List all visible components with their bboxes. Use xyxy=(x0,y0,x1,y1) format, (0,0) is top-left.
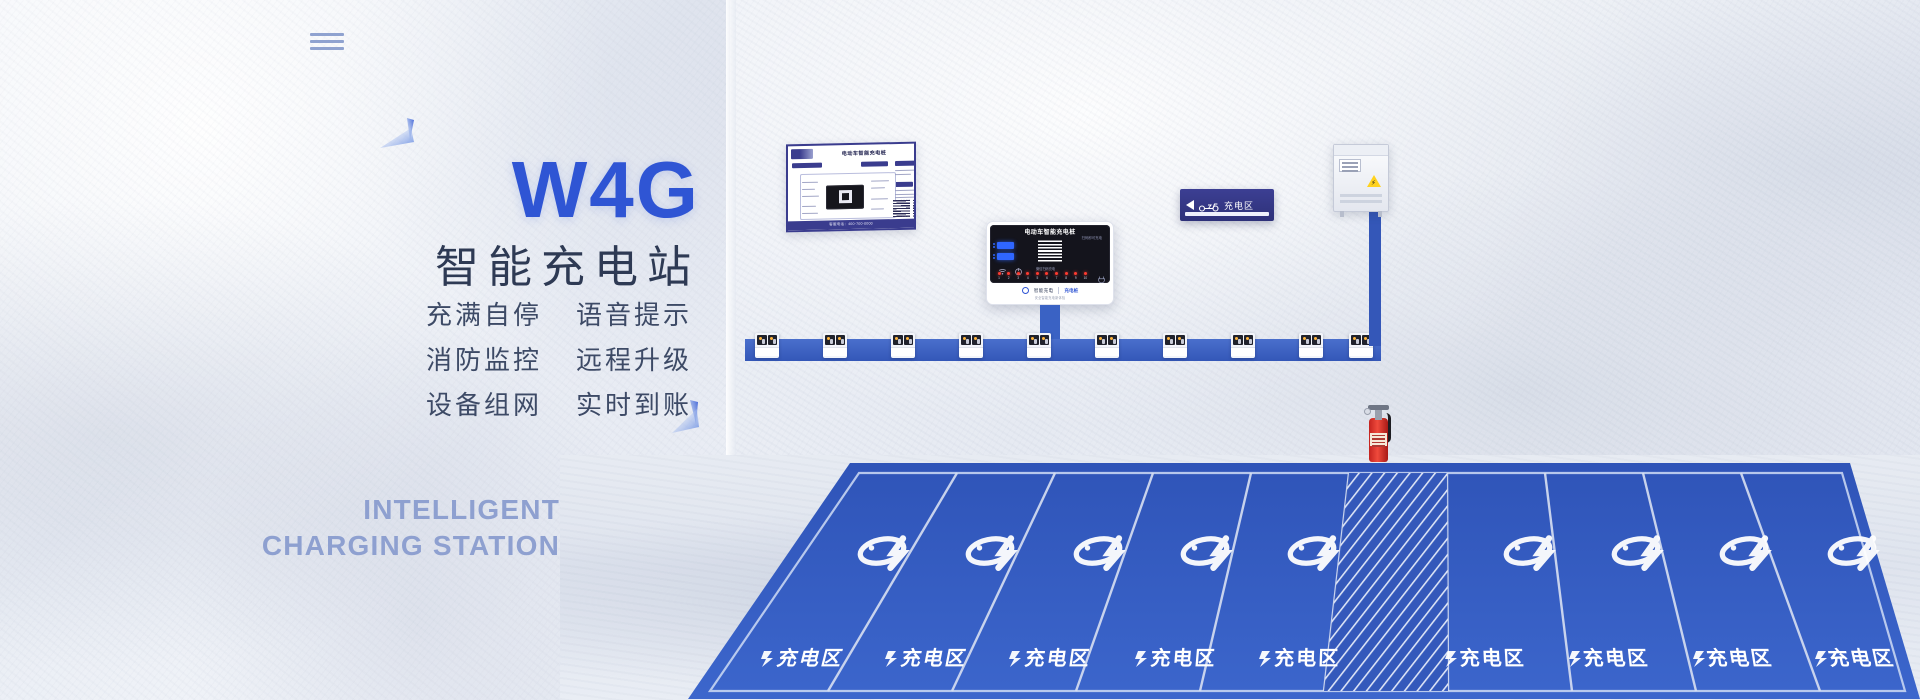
menu-bar-3 xyxy=(310,47,344,50)
banner-stage: W4G 智能充电站 充满自停 语音提示 消防监控 远程升级 设备组网 实时到账 … xyxy=(0,0,1920,700)
bay-label: 充电区 xyxy=(1705,646,1775,670)
extinguisher-handle xyxy=(1368,405,1389,410)
poster-price-line xyxy=(895,170,915,172)
feature-label: 充满自停 xyxy=(426,295,550,332)
feature-row: 设备组网 实时到账 xyxy=(0,385,700,422)
poster-title: 电动车智能充电桩 xyxy=(817,148,911,157)
pile-slogan: 安全智能充电新体验 xyxy=(1035,295,1066,300)
poster-footer: 客服电话：400-700-0000 xyxy=(788,219,914,231)
pile-port[interactable]: 3 xyxy=(1015,272,1021,280)
headline-block: W4G 智能充电站 xyxy=(0,150,700,295)
port-led xyxy=(998,272,1001,275)
cabinet-header xyxy=(1334,145,1388,156)
feature-row: 消防监控 远程升级 xyxy=(0,340,700,377)
pile-port[interactable]: 6 xyxy=(1044,272,1050,280)
pile-indicator-dot xyxy=(993,246,995,248)
poster-qr-alipay xyxy=(913,199,916,216)
port-led xyxy=(1045,272,1048,275)
feature-label: 语音提示 xyxy=(576,295,700,332)
power-icon xyxy=(1014,263,1023,272)
poster-body xyxy=(788,160,914,225)
pile-qr-code[interactable] xyxy=(1038,239,1062,263)
pile-port[interactable]: 2 xyxy=(1006,272,1012,280)
feature-row: 充满自停 语音提示 xyxy=(0,295,700,332)
pile-port[interactable]: 5 xyxy=(1034,272,1040,280)
english-line-2: CHARGING STATION xyxy=(0,528,560,564)
port-led xyxy=(1055,272,1058,275)
pile-port[interactable]: 10 xyxy=(1082,272,1088,280)
pile-port[interactable]: 9 xyxy=(1073,272,1079,280)
sign-light-bar xyxy=(1185,212,1269,216)
extinguisher-label xyxy=(1370,433,1387,446)
plug-icon xyxy=(1097,271,1106,279)
feature-label: 实时到账 xyxy=(576,385,700,422)
brand-headline: W4G xyxy=(0,150,700,230)
port-led xyxy=(1065,272,1068,275)
port-number: 8 xyxy=(1063,276,1069,280)
poster-qr-wechat xyxy=(893,200,910,217)
poster-price-line xyxy=(895,174,911,176)
poster-device-screen xyxy=(839,190,852,203)
bay-label: 充电区 xyxy=(1274,646,1341,670)
port-led xyxy=(1026,272,1029,275)
cabinet-meter xyxy=(1339,159,1361,172)
charging-pile-panel: 电动车智能充电桩 扫码即可充电 微信扫码充电 1 2 xyxy=(990,225,1110,283)
scooter-icon xyxy=(1198,199,1220,211)
port-led xyxy=(1017,272,1020,275)
brand-mark-icon xyxy=(1022,287,1029,294)
bay-label: 充电区 xyxy=(1582,646,1651,670)
port-number: 5 xyxy=(1034,276,1040,280)
port-number: 7 xyxy=(1054,276,1060,280)
poster-section-tag xyxy=(895,161,915,166)
pile-brand-line: 智能充电 充电桩 xyxy=(1022,287,1078,294)
wall-poster: 电动车智能充电桩 xyxy=(786,142,916,233)
poster-note-line xyxy=(895,190,916,192)
feature-label: 消防监控 xyxy=(426,340,550,377)
bay-label: 充电区 xyxy=(1459,646,1526,670)
pile-indicator-dot xyxy=(993,257,995,259)
cabinet-vent xyxy=(1340,200,1382,203)
power-socket-icon[interactable] xyxy=(1163,333,1187,358)
cabinet-vent xyxy=(1340,194,1382,197)
bay-label: 充电区 xyxy=(1023,646,1092,670)
charging-pile-body: 电动车智能充电桩 扫码即可充电 微信扫码充电 1 2 xyxy=(986,221,1114,305)
port-led xyxy=(1007,272,1010,275)
english-subtitle-block: INTELLIGENT CHARGING STATION xyxy=(0,492,560,564)
bay-label: 充电区 xyxy=(1826,646,1897,670)
port-number: 10 xyxy=(1082,276,1088,280)
port-number: 9 xyxy=(1073,276,1079,280)
power-socket-icon[interactable] xyxy=(755,333,779,358)
pile-indicator-dot xyxy=(993,254,995,256)
power-socket-icon[interactable] xyxy=(823,333,847,358)
power-socket-icon[interactable] xyxy=(1231,333,1255,358)
power-socket-icon[interactable] xyxy=(1027,333,1051,358)
poster-section-tag xyxy=(861,161,888,167)
left-arrow-icon xyxy=(1186,200,1194,210)
feature-label: 远程升级 xyxy=(576,340,700,377)
pile-port[interactable]: 8 xyxy=(1063,272,1069,280)
poster-section-tag xyxy=(792,163,822,169)
pile-indicator-dot xyxy=(993,243,995,245)
poster-note-line xyxy=(895,197,916,199)
port-number: 2 xyxy=(1006,276,1012,280)
poster-logo-icon xyxy=(791,149,813,159)
power-socket-icon[interactable] xyxy=(1299,333,1323,358)
bay-label: 充电区 xyxy=(775,646,847,670)
english-line-1: INTELLIGENT xyxy=(0,492,560,528)
port-led xyxy=(1074,272,1077,275)
cabinet-legs xyxy=(1334,211,1388,217)
pile-brand-footer: 智能充电 充电桩 安全智能充电新体验 xyxy=(987,283,1113,304)
parking-floor-svg: 充电区 充电区 充电区 充电区 充电区 充电区 充电区 充电区 充电区 xyxy=(560,455,1920,700)
menu-bar-1 xyxy=(310,33,344,36)
port-number: 3 xyxy=(1015,276,1021,280)
feature-label: 设备组网 xyxy=(426,385,550,422)
bay-label: 充电区 xyxy=(899,646,970,670)
pile-display-segment xyxy=(997,253,1014,260)
extinguisher-neck xyxy=(1375,410,1382,420)
direction-sign-text: 充电区 xyxy=(1224,199,1254,212)
port-number: 1 xyxy=(996,276,1002,280)
power-socket-icon[interactable] xyxy=(959,333,983,358)
pile-brand-name: 智能充电 xyxy=(1034,288,1054,294)
poster-device-illustration xyxy=(826,185,864,210)
poster-footer-text: 客服电话：400-700-0000 xyxy=(829,222,873,228)
pile-qr-caption: 微信扫码充电 xyxy=(1036,266,1055,271)
hamburger-menu-icon[interactable] xyxy=(310,33,344,55)
divider xyxy=(1058,287,1059,294)
brand-subtitle: 智能充电站 xyxy=(0,240,700,295)
rail-riser-conduit xyxy=(1369,196,1381,346)
pile-subtitle: 扫码即可充电 xyxy=(1082,235,1102,240)
pile-port[interactable]: 4 xyxy=(1025,272,1031,280)
electrical-cabinet xyxy=(1333,144,1389,212)
port-number: 6 xyxy=(1044,276,1050,280)
pile-display-segment xyxy=(997,242,1014,249)
pile-brand-tag: 充电桩 xyxy=(1064,288,1078,294)
high-voltage-icon xyxy=(1367,175,1381,187)
wifi-icon xyxy=(998,263,1007,272)
bay-label-group: 充电区 充电区 充电区 充电区 充电区 充电区 充电区 充电区 充电区 xyxy=(775,646,1897,670)
pile-port[interactable]: 1 xyxy=(996,272,1002,280)
bay-label: 充电区 xyxy=(1150,646,1218,670)
port-number: 4 xyxy=(1025,276,1031,280)
port-led xyxy=(1084,272,1087,275)
poster-note-line xyxy=(895,193,914,195)
extinguisher-gauge xyxy=(1364,408,1371,415)
feature-list: 充满自停 语音提示 消防监控 远程升级 设备组网 实时到账 xyxy=(0,295,700,430)
pile-port[interactable]: 7 xyxy=(1054,272,1060,280)
power-socket-icon[interactable] xyxy=(891,333,915,358)
port-led xyxy=(1036,272,1039,275)
wall-power-rail xyxy=(745,339,1381,361)
menu-bar-2 xyxy=(310,40,344,43)
power-socket-icon[interactable] xyxy=(1095,333,1119,358)
direction-sign[interactable]: 充电区 xyxy=(1180,189,1274,221)
parking-floor: 充电区 充电区 充电区 充电区 充电区 充电区 充电区 充电区 充电区 xyxy=(560,455,1920,700)
poster-section-tag xyxy=(895,182,913,187)
pile-port-row: 1 2 3 4 5 6 7 8 9 10 xyxy=(996,272,1112,280)
